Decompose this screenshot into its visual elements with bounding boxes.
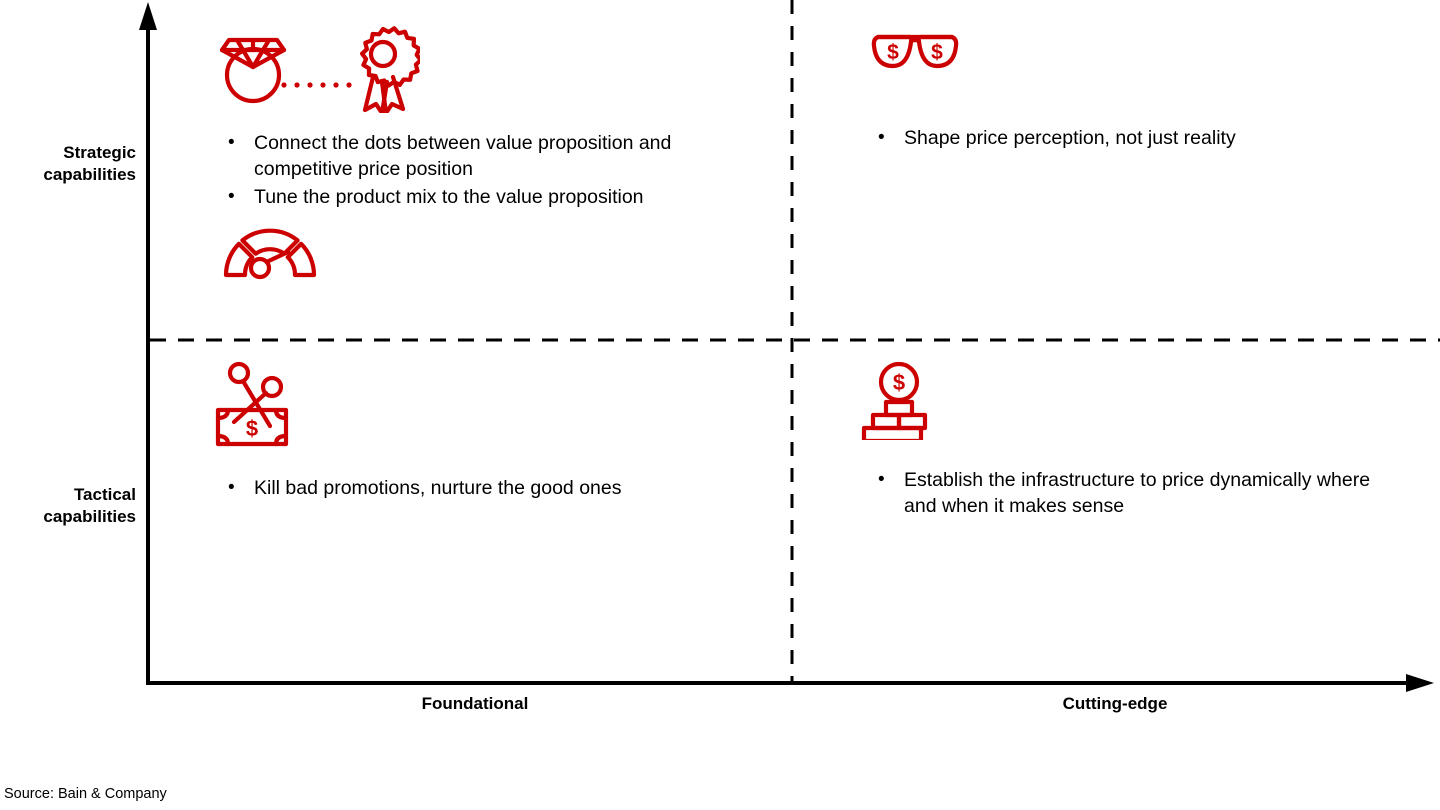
list-item: Tune the product mix to the value propos… — [210, 185, 770, 211]
gauge-icon — [222, 221, 318, 281]
list-item: Shape price perception, not just reality — [860, 126, 1380, 152]
award-rosette-icon — [362, 28, 420, 113]
quadrant-tactical-foundational: $ Kill bad promotions, nurture the good … — [210, 360, 770, 504]
icon-group-coin-bricks: $ — [860, 360, 1380, 440]
dollar-glyph-left: $ — [887, 41, 899, 64]
source-note: Source: Bain & Company — [4, 786, 167, 802]
list-item: Kill bad promotions, nurture the good on… — [210, 476, 770, 502]
y-axis-label-strategic-line2: capabilities — [43, 165, 136, 184]
bullet-list-strategic-foundational: Connect the dots between value propositi… — [210, 131, 770, 211]
bullet-list-tactical-cutting-edge: Establish the infrastructure to price dy… — [860, 468, 1380, 520]
ring-rosette-composite-icon — [210, 18, 420, 113]
bullet-list-tactical-foundational: Kill bad promotions, nurture the good on… — [210, 476, 770, 502]
y-axis-label-tactical: Tactical capabilities — [0, 484, 136, 528]
y-axis-label-tactical-line1: Tactical — [74, 485, 136, 504]
y-axis-label-strategic: Strategic capabilities — [0, 142, 136, 186]
icon-group-ring-rosette — [210, 18, 770, 113]
y-axis-arrowhead — [139, 2, 157, 30]
x-axis-arrowhead — [1406, 674, 1434, 692]
dollar-glyph-right: $ — [931, 41, 943, 64]
list-item: Connect the dots between value propositi… — [210, 131, 770, 183]
x-axis-label-foundational: Foundational — [330, 694, 620, 714]
quadrant-chart-canvas: Strategic capabilities Tactical capabili… — [0, 0, 1440, 810]
quadrant-strategic-cutting-edge: $ $ Shape price perception, not just rea… — [860, 18, 1380, 154]
x-axis-label-cutting-edge: Cutting-edge — [970, 694, 1260, 714]
quadrant-tactical-cutting-edge: $ Establish the infrastructure to price … — [860, 360, 1380, 522]
icon-group-glasses: $ $ — [860, 18, 1380, 78]
bullet-list-strategic-cutting-edge: Shape price perception, not just reality — [860, 126, 1380, 152]
list-item: Establish the infrastructure to price dy… — [860, 468, 1380, 520]
dotted-connector-icon — [281, 82, 351, 87]
y-axis-label-tactical-line2: capabilities — [43, 507, 136, 526]
dollar-glasses-icon: $ $ — [860, 18, 970, 78]
dollar-glyph-coin: $ — [893, 370, 905, 395]
dollar-glyph-note: $ — [246, 416, 258, 441]
icon-group-gauge — [222, 221, 770, 286]
coin-on-bricks-icon: $ — [860, 360, 936, 440]
icon-group-scissors-money: $ — [210, 360, 770, 448]
quadrant-strategic-foundational: Connect the dots between value propositi… — [210, 18, 770, 286]
y-axis-label-strategic-line1: Strategic — [63, 143, 136, 162]
scissors-cutting-money-icon: $ — [210, 360, 302, 448]
